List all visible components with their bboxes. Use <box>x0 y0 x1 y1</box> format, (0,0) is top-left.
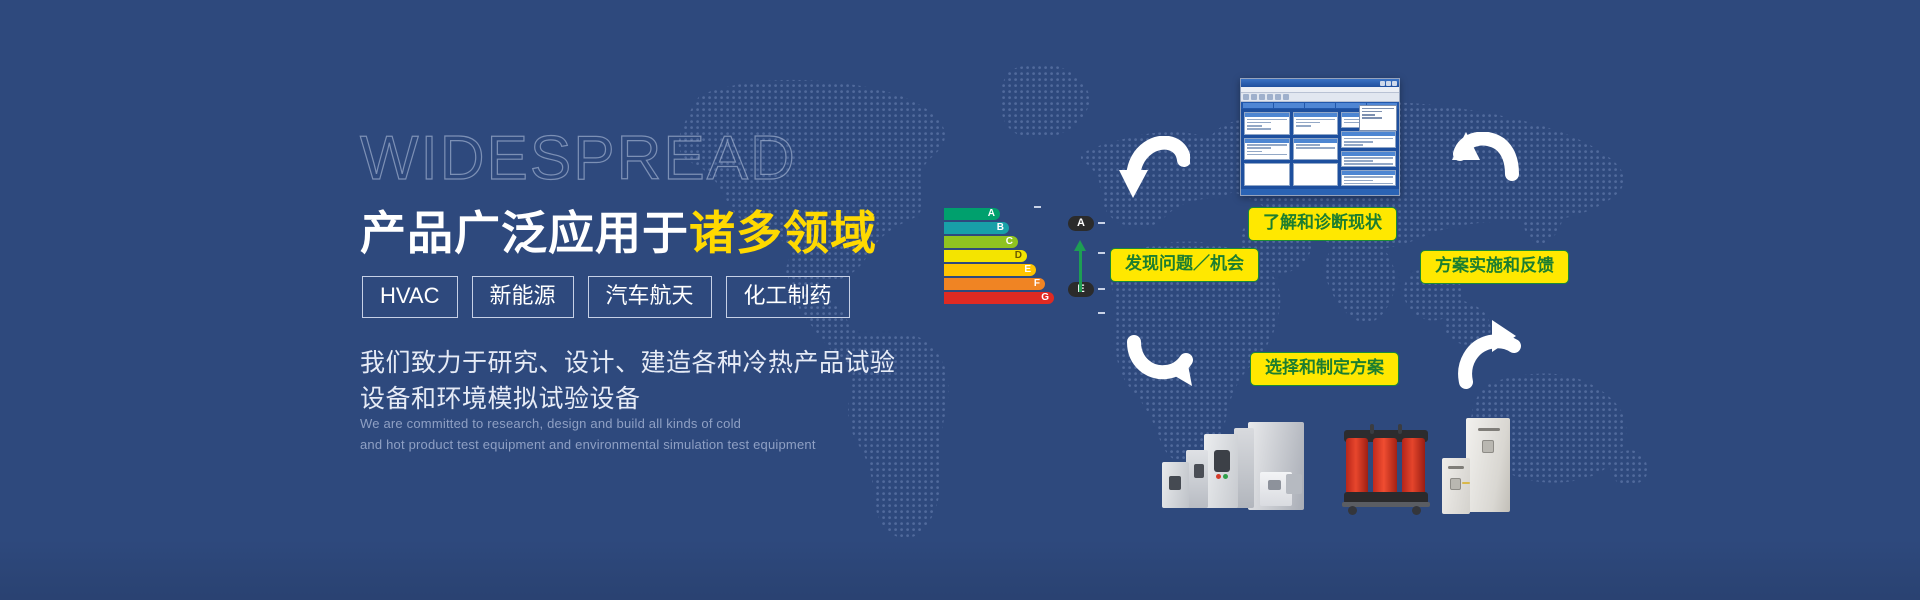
arrow-bottom-right-icon <box>1452 320 1522 390</box>
toolbar-icon-3[interactable] <box>1259 94 1265 100</box>
window-panel-row-1 <box>1244 112 1338 135</box>
toolbar-icon-4[interactable] <box>1267 94 1273 100</box>
energy-tick-1 <box>1098 222 1105 224</box>
energy-tick-2 <box>1098 252 1105 254</box>
arrow-top-right-icon <box>1452 132 1524 196</box>
panel-header <box>1342 152 1395 156</box>
energy-bar-d: D <box>944 250 1027 262</box>
window-panel-9[interactable] <box>1341 151 1396 167</box>
energy-improvement-arrow-shaft <box>1079 248 1082 292</box>
window-tab-3[interactable] <box>1305 103 1335 108</box>
window-panel-6[interactable] <box>1293 163 1339 186</box>
industry-tag-chemical-pharma[interactable]: 化工制药 <box>726 276 850 318</box>
energy-tick-4 <box>1098 312 1105 314</box>
control-software-window[interactable] <box>1240 78 1400 196</box>
window-toolbar[interactable] <box>1241 93 1399 102</box>
window-panel-1[interactable] <box>1244 112 1290 135</box>
ghost-headline: WIDESPREAD <box>360 128 797 190</box>
energy-tick-3 <box>1098 288 1105 290</box>
window-panel-8[interactable] <box>1341 131 1396 147</box>
industry-tag-automotive-aerospace[interactable]: 汽车航天 <box>588 276 712 318</box>
energy-bar-f: F <box>944 278 1045 290</box>
toolbar-icon-6[interactable] <box>1283 94 1289 100</box>
equipment-white-enclosures <box>1438 412 1518 517</box>
industry-tag-list: HVAC 新能源 汽车航天 化工制药 <box>362 276 850 318</box>
callout-discover[interactable]: 发现问题／机会 <box>1110 248 1259 282</box>
window-status-bar <box>1241 189 1399 195</box>
equipment-dry-type-transformer <box>1340 418 1432 518</box>
headline-yellow-part: 诸多领域 <box>689 207 877 259</box>
window-popup-menu[interactable] <box>1359 105 1397 131</box>
arrow-bottom-left-icon <box>1122 328 1194 394</box>
panel-header <box>1294 139 1338 143</box>
energy-bar-c: C <box>944 236 1018 248</box>
panel-header <box>1342 171 1395 175</box>
panel-header <box>1342 132 1395 136</box>
window-close-icon[interactable] <box>1392 81 1397 86</box>
window-panel-row-2 <box>1244 138 1338 161</box>
toolbar-icon-5[interactable] <box>1275 94 1281 100</box>
window-panel-3[interactable] <box>1244 138 1290 161</box>
industry-tag-hvac[interactable]: HVAC <box>362 276 458 318</box>
energy-bar-e: E <box>944 264 1036 276</box>
toolbar-icon-1[interactable] <box>1243 94 1249 100</box>
window-panel-4[interactable] <box>1293 138 1339 161</box>
energy-improvement-arrow-icon <box>1074 240 1086 251</box>
window-tab-1[interactable] <box>1243 103 1273 108</box>
panel-header <box>1245 113 1289 117</box>
toolbar-icon-2[interactable] <box>1251 94 1257 100</box>
panel-header <box>1245 139 1289 143</box>
page-title: 产品广泛应用于诸多领域 <box>360 210 877 256</box>
description-english: We are committed to research, design and… <box>360 413 880 456</box>
energy-target-grade-pill: A <box>1068 216 1094 231</box>
window-panel-row-3 <box>1244 163 1338 186</box>
callout-implement[interactable]: 方案实施和反馈 <box>1420 250 1569 284</box>
window-left-panels <box>1244 112 1338 186</box>
industry-tag-new-energy[interactable]: 新能源 <box>472 276 574 318</box>
energy-tick-5 <box>1034 206 1041 208</box>
window-panel-5[interactable] <box>1244 163 1290 186</box>
window-tab-2[interactable] <box>1274 103 1304 108</box>
description-english-line-2: and hot product test equipment and envir… <box>360 434 880 455</box>
window-maximize-icon[interactable] <box>1386 81 1391 86</box>
window-panel-10[interactable] <box>1341 170 1396 186</box>
description-english-line-1: We are committed to research, design and… <box>360 413 880 434</box>
energy-bar-g: G <box>944 292 1054 304</box>
energy-bar-a: A <box>944 208 1000 220</box>
window-minimize-icon[interactable] <box>1380 81 1385 86</box>
energy-efficiency-label: A B C D E F G <box>944 208 1072 318</box>
callout-plan[interactable]: 选择和制定方案 <box>1250 352 1399 386</box>
hero-banner: WIDESPREAD 产品广泛应用于诸多领域 HVAC 新能源 汽车航天 化工制… <box>0 0 1920 600</box>
headline-white-part: 产品广泛应用于 <box>360 207 689 259</box>
window-title-bar[interactable] <box>1241 79 1399 87</box>
panel-header <box>1294 113 1338 117</box>
description-chinese: 我们致力于研究、设计、建造各种冷热产品试验设备和环境模拟试验设备 <box>360 346 900 417</box>
energy-bar-b: B <box>944 222 1009 234</box>
arrow-top-left-icon <box>1118 136 1190 200</box>
equipment-control-cabinets <box>1150 420 1310 515</box>
window-panel-2[interactable] <box>1293 112 1339 135</box>
callout-diagnose[interactable]: 了解和诊断现状 <box>1248 207 1397 241</box>
